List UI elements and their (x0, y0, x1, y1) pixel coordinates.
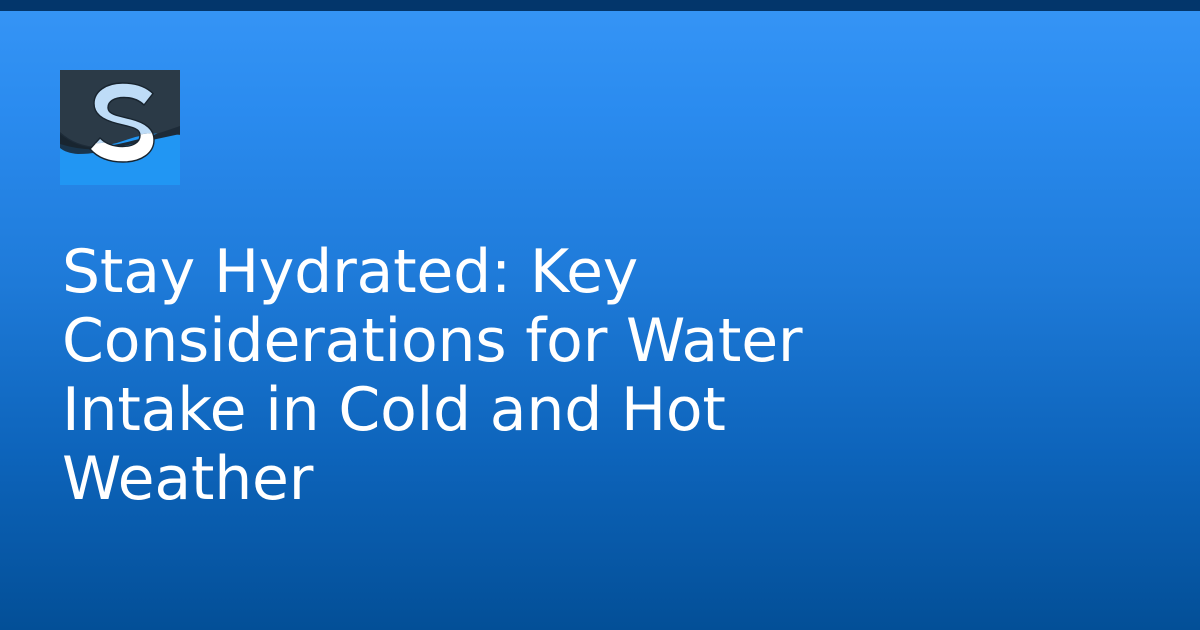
social-share-card: Stay Hydrated: Key Considerations for Wa… (0, 0, 1200, 630)
brand-logo[interactable] (60, 70, 180, 185)
logo-s-icon (60, 70, 180, 185)
top-accent-bar (0, 0, 1200, 11)
page-title: Stay Hydrated: Key Considerations for Wa… (62, 238, 942, 514)
